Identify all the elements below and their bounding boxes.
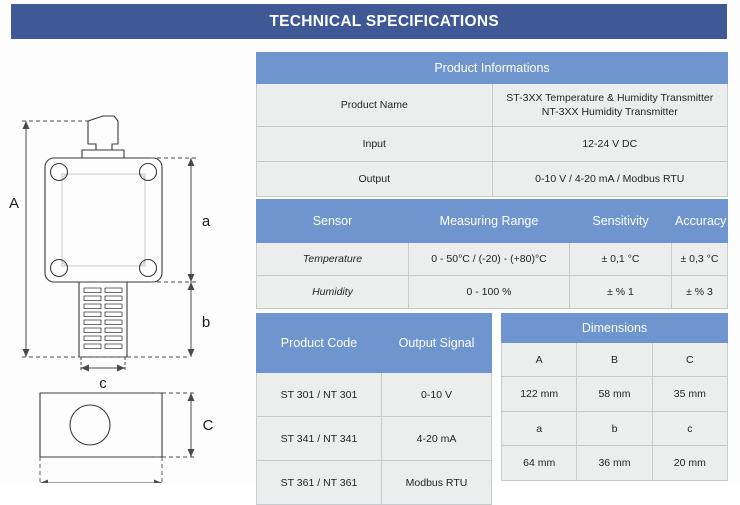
humidity-accuracy: ± % 3 — [672, 276, 728, 309]
probe-vent-slots — [84, 288, 122, 349]
table-row: Humidity 0 - 100 % ± % 1 ± % 3 — [257, 276, 728, 309]
dim-value-C: 35 mm — [652, 377, 727, 412]
dim-value-c: 20 mm — [652, 446, 727, 481]
probe-housing — [79, 282, 127, 357]
table-row: 122 mm 58 mm 35 mm — [502, 377, 728, 412]
dim-value-B: 58 mm — [577, 377, 652, 412]
product-name-line1: ST-3XX Temperature & Humidity Transmitte… — [496, 91, 725, 105]
dimensions-table: Dimensions A B C 122 mm 58 mm 35 mm a b … — [501, 313, 728, 481]
dimension-B — [40, 480, 162, 484]
page-title: TECHNICAL SPECIFICATIONS — [269, 13, 499, 31]
sensor-body-inner-panel — [62, 174, 145, 266]
table-row: A B C — [502, 343, 728, 377]
product-code-value: ST 341 / NT 341 — [257, 417, 382, 461]
table-row: ST 341 / NT 341 4-20 mA — [257, 417, 492, 461]
dim-letter-a: a — [502, 412, 577, 446]
label-b: b — [202, 314, 210, 331]
product-code-table: Product Code Output Signal ST 301 / NT 3… — [256, 313, 492, 505]
table-row: Product Name ST-3XX Temperature & Humidi… — [257, 84, 728, 127]
table-row: 64 mm 36 mm 20 mm — [502, 446, 728, 481]
sensor-specifications-table: Sensor Measuring Range Sensitivity Accur… — [256, 199, 728, 309]
table-row: a b c — [502, 412, 728, 446]
input-value: 12-24 V DC — [492, 127, 728, 162]
temperature-range: 0 - 50°C / (-20) - (+80)°C — [409, 243, 570, 276]
dimension-a — [188, 158, 195, 282]
temperature-accuracy: ± 0,3 °C — [672, 243, 728, 276]
inner-panel-corners — [62, 174, 145, 266]
col-header-sensor: Sensor — [257, 200, 409, 243]
label-c: c — [99, 375, 107, 392]
dim-value-b: 36 mm — [577, 446, 652, 481]
extension-lines-side — [40, 393, 196, 483]
humidity-sensitivity: ± % 1 — [570, 276, 672, 309]
gland-base — [82, 150, 124, 158]
drawing-svg: A a b c C B — [0, 40, 248, 483]
dim-letter-c: c — [652, 412, 727, 446]
side-view-outline — [40, 393, 162, 457]
sensor-name-temperature: Temperature — [257, 243, 409, 276]
temperature-sensitivity: ± 0,1 °C — [570, 243, 672, 276]
product-code-value: ST 301 / NT 301 — [257, 373, 382, 417]
extension-lines-front — [22, 121, 196, 357]
dim-letter-A: A — [502, 343, 577, 377]
dimension-C — [188, 393, 195, 457]
output-value: 0-10 V / 4-20 mA / Modbus RTU — [492, 162, 728, 197]
label-a: a — [202, 213, 211, 230]
table-row: ST 301 / NT 301 0-10 V — [257, 373, 492, 417]
table-header-row: Dimensions — [502, 314, 728, 343]
table-row: Product Informations — [257, 53, 728, 84]
output-signal-value: 4-20 mA — [382, 417, 492, 461]
col-header-sensitivity: Sensitivity — [570, 200, 672, 243]
dim-letter-B: B — [577, 343, 652, 377]
dim-value-a: 64 mm — [502, 446, 577, 481]
dimension-b — [188, 282, 195, 357]
input-label: Input — [257, 127, 493, 162]
table-header-row: Product Code Output Signal — [257, 314, 492, 373]
humidity-range: 0 - 100 % — [409, 276, 570, 309]
dimension-A — [23, 121, 30, 357]
product-informations-table: Product Informations Product Name ST-3XX… — [256, 52, 728, 197]
product-info-title: Product Informations — [257, 53, 728, 84]
corner-screws — [51, 164, 157, 277]
dimension-c — [81, 357, 125, 372]
sensor-body-outline — [45, 158, 162, 282]
col-header-product-code: Product Code — [257, 314, 382, 373]
dim-letter-b: b — [577, 412, 652, 446]
label-A: A — [9, 195, 19, 212]
product-dimension-drawing: A a b c C B — [0, 40, 248, 483]
product-name-label: Product Name — [257, 84, 493, 127]
output-signal-value: 0-10 V — [382, 373, 492, 417]
technical-specifications-header: TECHNICAL SPECIFICATIONS — [11, 4, 727, 39]
label-C: C — [203, 417, 214, 434]
cable-gland-shape — [88, 116, 118, 150]
table-row: Temperature 0 - 50°C / (-20) - (+80)°C ±… — [257, 243, 728, 276]
col-header-accuracy: Accuracy — [672, 200, 728, 243]
sensor-name-humidity: Humidity — [257, 276, 409, 309]
table-row: Input 12-24 V DC — [257, 127, 728, 162]
product-name-line2: NT-3XX Humidity Transmitter — [496, 105, 725, 119]
output-label: Output — [257, 162, 493, 197]
dim-letter-C: C — [652, 343, 727, 377]
table-row: Output 0-10 V / 4-20 mA / Modbus RTU — [257, 162, 728, 197]
dim-value-A: 122 mm — [502, 377, 577, 412]
product-name-value: ST-3XX Temperature & Humidity Transmitte… — [492, 84, 728, 127]
side-view-circle — [70, 405, 110, 445]
table-header-row: Sensor Measuring Range Sensitivity Accur… — [257, 200, 728, 243]
col-header-measuring-range: Measuring Range — [409, 200, 570, 243]
col-header-output-signal: Output Signal — [382, 314, 492, 373]
dimensions-title: Dimensions — [502, 314, 728, 343]
